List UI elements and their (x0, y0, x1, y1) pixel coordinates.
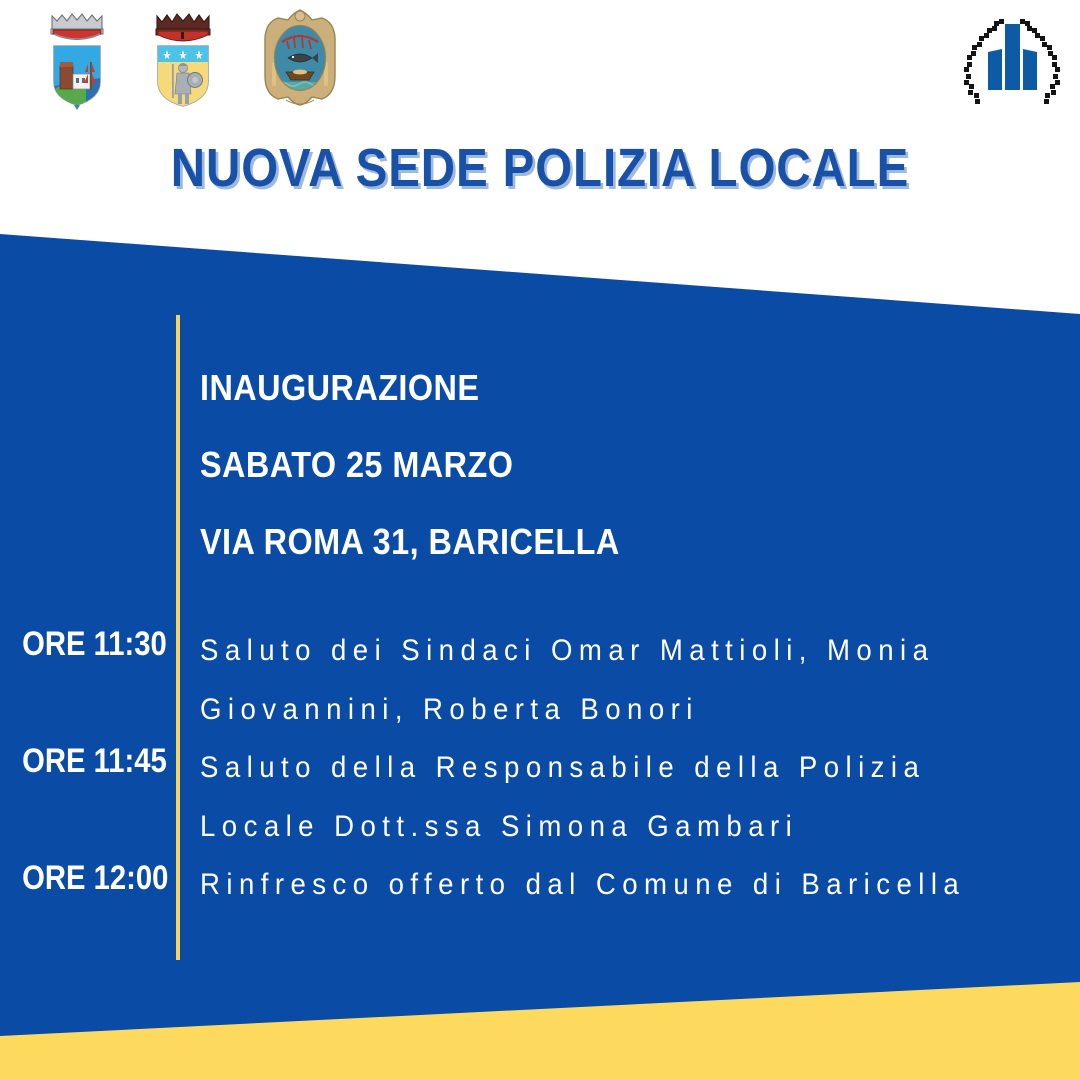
schedule-row: ORE 11:30 Saluto dei Sindaci Omar Mattio… (0, 622, 1080, 739)
shield-body (158, 46, 208, 108)
schedule-time: ORE 11:45 (22, 739, 158, 778)
crest-comune-2 (146, 4, 220, 110)
schedule-row: ORE 12:00 Rinfresco offerto dal Comune d… (0, 856, 1080, 915)
polizia-locale-logo (958, 6, 1066, 110)
schedule-row: ORE 11:45 Saluto della Responsabile dell… (0, 739, 1080, 856)
tower-icon (988, 24, 1037, 90)
poster-canvas: NUOVA SEDE POLIZIA LOCALE INAUGURAZIONE … (0, 0, 1080, 1080)
crest-comune-3 (256, 4, 344, 110)
crest-comune-1 (42, 4, 112, 110)
schedule-time: ORE 12:00 (22, 856, 158, 895)
detail-inaugurazione: INAUGURAZIONE (200, 370, 620, 406)
shield-body (54, 46, 100, 110)
crown-silver-icon (51, 14, 103, 40)
schedule-description: Saluto della Responsabile della Polizia … (200, 739, 1010, 856)
schedule-description: Saluto dei Sindaci Omar Mattioli, Monia … (200, 622, 1010, 739)
schedule-list: ORE 11:30 Saluto dei Sindaci Omar Mattio… (0, 622, 1080, 915)
page-title: NUOVA SEDE POLIZIA LOCALE (65, 137, 1015, 199)
detail-date: SABATO 25 MARZO (200, 447, 620, 483)
crown-red-icon (156, 14, 210, 41)
schedule-time: ORE 11:30 (22, 622, 158, 661)
schedule-description: Rinfresco offerto dal Comune di Baricell… (200, 856, 1010, 915)
detail-address: VIA ROMA 31, BARICELLA (200, 524, 620, 560)
crest-row (0, 0, 1080, 120)
event-details-block: INAUGURAZIONE SABATO 25 MARZO VIA ROMA 3… (200, 370, 666, 601)
